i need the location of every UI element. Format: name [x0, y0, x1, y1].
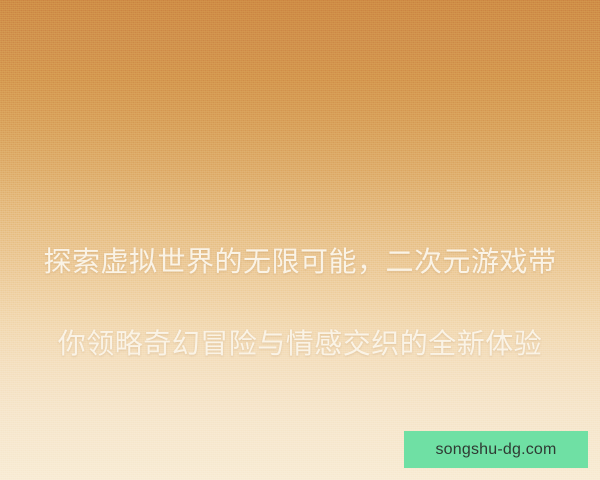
promo-banner: 探索虚拟世界的无限可能，二次元游戏带 你领略奇幻冒险与情感交织的全新体验 son…	[0, 0, 600, 480]
background-gradient	[0, 0, 600, 480]
site-watermark-label: songshu-dg.com	[435, 442, 556, 458]
site-watermark-badge[interactable]: songshu-dg.com	[404, 431, 588, 468]
